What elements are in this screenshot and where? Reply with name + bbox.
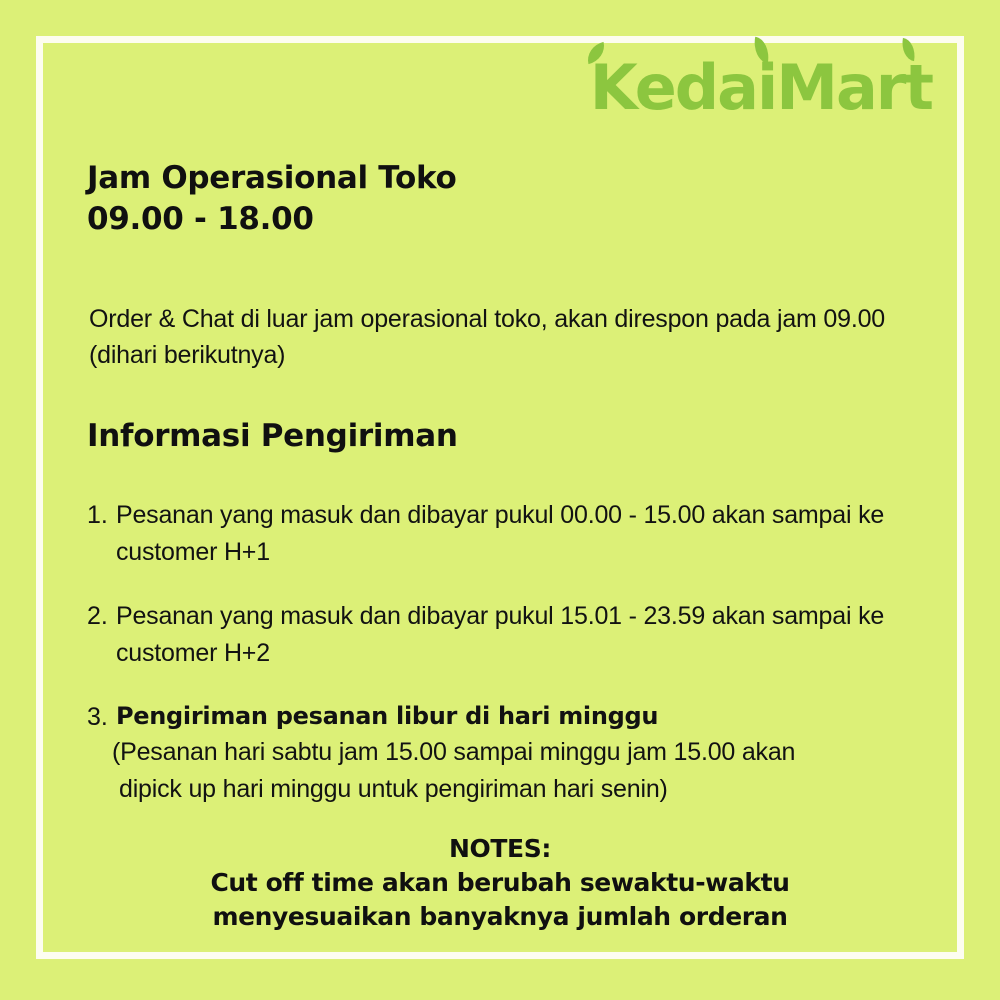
list-item-text: Pesanan yang masuk dan dibayar pukul 15.…	[116, 598, 957, 671]
list-item: 2. Pesanan yang masuk dan dibayar pukul …	[87, 598, 957, 671]
notes-title: NOTES:	[0, 832, 1000, 866]
list-item-bold-text: Pengiriman pesanan libur di hari minggu	[116, 699, 957, 734]
list-item-text: Pesanan yang masuk dan dibayar pukul 00.…	[116, 497, 957, 570]
brand-logo: KedaiMart	[590, 52, 932, 124]
operating-hours-heading: Jam Operasional Toko 09.00 - 18.00	[87, 158, 457, 240]
list-item-sub-line: (Pesanan hari sabtu jam 15.00 sampai min…	[112, 734, 957, 771]
promo-poster: KedaiMart Jam Operasional Toko 09.00 - 1…	[0, 0, 1000, 1000]
list-item-sub-line: dipick up hari minggu untuk pengiriman h…	[119, 771, 957, 808]
notes-line-2: menyesuaikan banyaknya jumlah orderan	[0, 900, 1000, 934]
list-item-text: Pengiriman pesanan libur di hari minggu …	[116, 699, 957, 807]
notes-line-1: Cut off time akan berubah sewaktu-waktu	[0, 866, 1000, 900]
shipping-info-heading: Informasi Pengiriman	[87, 416, 458, 457]
shipping-info-list: 1. Pesanan yang masuk dan dibayar pukul …	[87, 497, 957, 835]
list-item: 1. Pesanan yang masuk dan dibayar pukul …	[87, 497, 957, 570]
list-item-number: 3.	[87, 699, 116, 736]
operating-hours-value: 09.00 - 18.00	[87, 201, 314, 237]
operating-hours-title: Jam Operasional Toko	[87, 160, 457, 196]
brand-logo-text: KedaiMart	[590, 57, 932, 119]
operating-hours-note: Order & Chat di luar jam operasional tok…	[89, 302, 939, 373]
list-item: 3. Pengiriman pesanan libur di hari ming…	[87, 699, 957, 807]
list-item-number: 1.	[87, 497, 116, 534]
notes-block: NOTES: Cut off time akan berubah sewaktu…	[0, 832, 1000, 934]
list-item-number: 2.	[87, 598, 116, 635]
